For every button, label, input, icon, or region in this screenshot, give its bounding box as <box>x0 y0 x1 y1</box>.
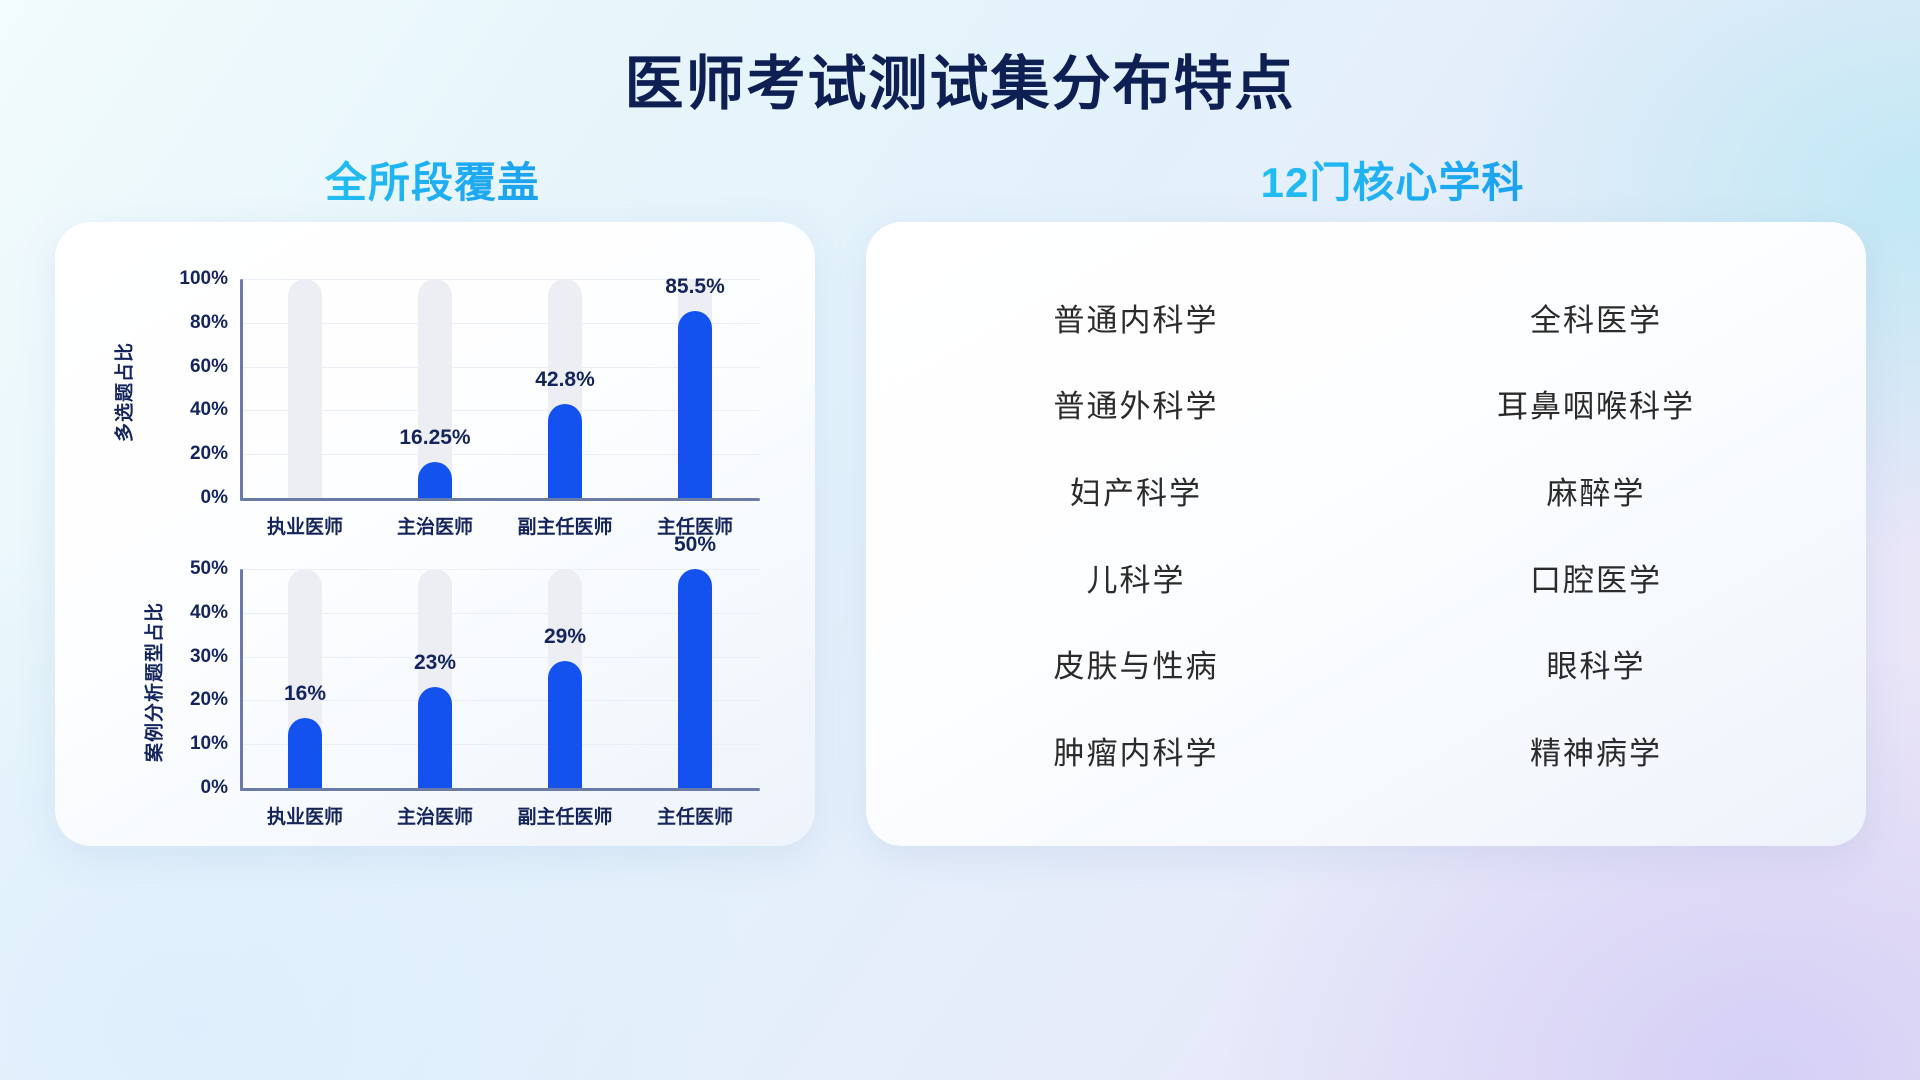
charts-card: 多选题占比 100%80%60%40%20%0%执业医师16.25%主治医师42… <box>55 222 815 846</box>
chart-0-y-tick: 60% <box>190 356 228 378</box>
subject-item: 麻醉学 <box>1386 447 1806 534</box>
chart-0-bar-group[interactable]: 85.5%主任医师 <box>630 279 760 498</box>
chart-0-x-tick: 执业医师 <box>267 512 343 539</box>
subject-item: 耳鼻咽喉科学 <box>1386 361 1806 448</box>
chart-1-x-tick: 主任医师 <box>657 802 733 829</box>
chart-1-bar-value-label: 23% <box>414 651 456 675</box>
chart-1-bar-value-label: 29% <box>544 625 586 649</box>
chart-0-x-tick: 主治医师 <box>397 512 473 539</box>
chart-0-bar-group[interactable]: 16.25%主治医师 <box>370 279 500 498</box>
subject-item: 普通外科学 <box>926 361 1346 448</box>
chart-1-bar-value-label: 50% <box>674 533 716 557</box>
chart-0-bar[interactable] <box>548 404 582 498</box>
chart-0-y-tick: 0% <box>201 487 228 509</box>
chart-0-x-tick: 副主任医师 <box>517 512 612 539</box>
chart-1-y-tick: 50% <box>190 558 228 580</box>
chart-1-x-tick: 主治医师 <box>397 802 473 829</box>
chart-0-bar[interactable] <box>678 311 712 498</box>
chart-1-y-tick: 20% <box>190 689 228 711</box>
subject-item: 肿瘤内科学 <box>926 707 1346 794</box>
chart-1-bar-group[interactable]: 16%执业医师 <box>240 569 370 788</box>
chart-1-y-tick: 0% <box>201 777 228 799</box>
chart-0-bar-value-label: 85.5% <box>665 275 725 299</box>
chart-1-x-tick: 执业医师 <box>267 802 343 829</box>
subject-item: 全科医学 <box>1386 274 1806 361</box>
chart-0-plot-area: 100%80%60%40%20%0%执业医师16.25%主治医师42.8%副主任… <box>240 279 760 501</box>
subject-item: 口腔医学 <box>1386 534 1806 621</box>
chart-1-x-axis <box>240 788 760 791</box>
subject-item: 皮肤与性病 <box>926 621 1346 708</box>
chart-multiple-choice: 多选题占比 100%80%60%40%20%0%执业医师16.25%主治医师42… <box>130 247 790 537</box>
subject-item: 妇产科学 <box>926 447 1346 534</box>
chart-1-plot-area: 50%40%30%20%10%0%16%执业医师23%主治医师29%副主任医师5… <box>240 569 760 791</box>
chart-1-bar-value-label: 16% <box>284 682 326 706</box>
subject-item: 普通内科学 <box>926 274 1346 361</box>
subject-item: 精神病学 <box>1386 707 1806 794</box>
chart-0-y-tick: 40% <box>190 399 228 421</box>
chart-0-x-axis <box>240 498 760 501</box>
chart-1-bar[interactable] <box>678 569 712 788</box>
chart-0-bar-group[interactable]: 执业医师 <box>240 279 370 498</box>
chart-0-bar-group[interactable]: 42.8%副主任医师 <box>500 279 630 498</box>
chart-1-bar-group[interactable]: 29%副主任医师 <box>500 569 630 788</box>
chart-1-bar[interactable] <box>288 718 322 788</box>
chart-1-bar[interactable] <box>418 687 452 788</box>
subject-item: 眼科学 <box>1386 621 1806 708</box>
chart-1-y-axis-title: 案例分析题型占比 <box>140 602 167 762</box>
section-heading-coverage: 全所段覆盖 <box>0 149 865 210</box>
chart-0-bar-track <box>288 279 322 498</box>
subject-grid: 普通内科学全科医学普通外科学耳鼻咽喉科学妇产科学麻醉学儿科学口腔医学皮肤与性病眼… <box>926 274 1806 794</box>
chart-1-bar-group[interactable]: 23%主治医师 <box>370 569 500 788</box>
chart-1-y-tick: 10% <box>190 733 228 755</box>
chart-1-y-tick: 40% <box>190 602 228 624</box>
chart-1-bar[interactable] <box>548 661 582 788</box>
chart-1-x-tick: 副主任医师 <box>517 802 612 829</box>
subjects-card: 普通内科学全科医学普通外科学耳鼻咽喉科学妇产科学麻醉学儿科学口腔医学皮肤与性病眼… <box>866 222 1866 846</box>
chart-1-bar-group[interactable]: 50%主任医师 <box>630 569 760 788</box>
chart-0-bar[interactable] <box>418 462 452 498</box>
subject-item: 儿科学 <box>926 534 1346 621</box>
chart-case-analysis: 案例分析题型占比 50%40%30%20%10%0%16%执业医师23%主治医师… <box>130 537 790 827</box>
chart-0-y-tick: 80% <box>190 312 228 334</box>
chart-0-bar-value-label: 42.8% <box>535 368 595 392</box>
chart-0-bar-value-label: 16.25% <box>399 426 470 450</box>
chart-0-y-tick: 20% <box>190 443 228 465</box>
section-heading-subjects: 12门核心学科 <box>865 149 1920 210</box>
chart-1-y-tick: 30% <box>190 646 228 668</box>
page-title: 医师考试测试集分布特点 <box>0 36 1920 121</box>
chart-0-y-tick: 100% <box>179 268 228 290</box>
chart-0-y-axis-title: 多选题占比 <box>110 342 137 442</box>
